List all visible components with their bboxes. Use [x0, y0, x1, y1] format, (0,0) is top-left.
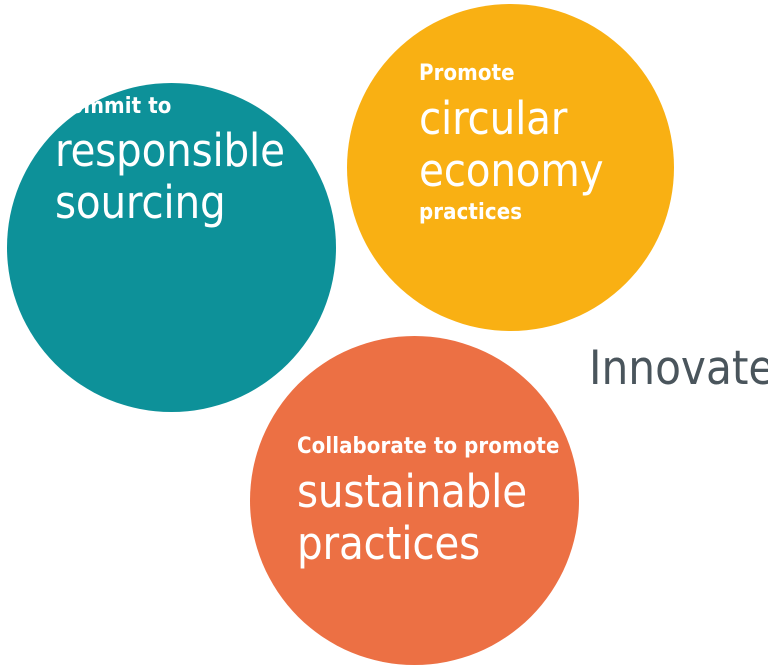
bubble-sustainable-practices-text: Collaborate to promote sustainable pract…	[297, 436, 587, 573]
bubble-responsible-sourcing-line-2: responsible	[55, 128, 345, 173]
bubble-circular-economy-line-3: economy	[419, 148, 679, 193]
bubble-responsible-sourcing-line-3: sourcing	[55, 180, 345, 225]
bubble-sustainable-practices-line-1: Collaborate to promote	[297, 436, 587, 458]
bubble-sustainable-practices-line-3: practices	[297, 521, 587, 566]
innovate-label: Innovate	[589, 345, 768, 392]
bubble-circular-economy-line-1: Promote	[419, 63, 679, 85]
infographic-canvas: Commit to responsible sourcing Promote c…	[0, 0, 768, 667]
bubble-circular-economy-line-2: circular	[419, 96, 679, 141]
bubble-responsible-sourcing-text: Commit to responsible sourcing	[55, 96, 345, 232]
bubble-circular-economy-line-4: practices	[419, 202, 679, 224]
bubble-circular-economy-text: Promote circular economy practices	[419, 63, 679, 224]
bubble-sustainable-practices-line-2: sustainable	[297, 469, 587, 514]
bubble-responsible-sourcing-line-1: Commit to	[55, 96, 345, 118]
